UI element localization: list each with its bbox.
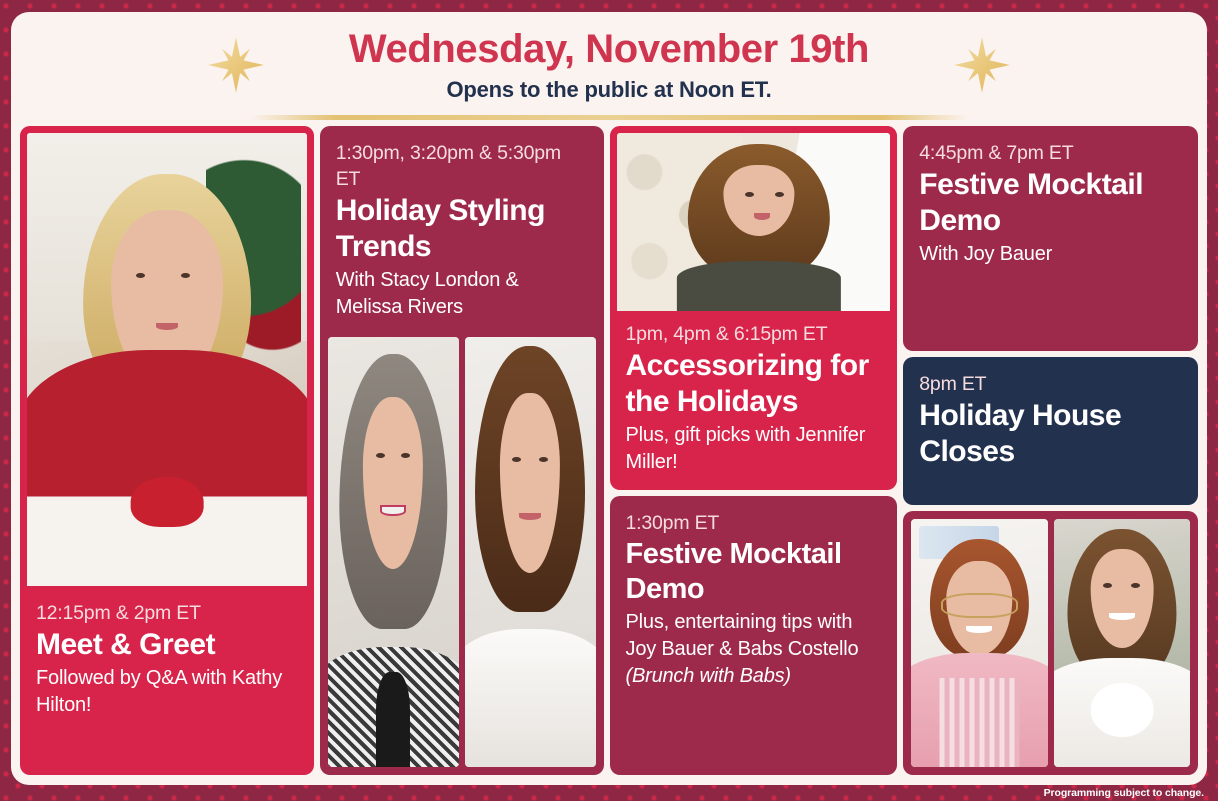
card-subtitle-plain: Plus, entertaining tips with Joy Bauer &… [626, 611, 859, 660]
card-title: Holiday House Closes [919, 398, 1182, 470]
star-icon [207, 36, 265, 94]
card-festive-mocktail-demo-445[interactable]: 4:45pm & 7pm ET Festive Mocktail Demo Wi… [903, 126, 1198, 351]
disclaimer-text: Programming subject to change. [1044, 787, 1204, 799]
presenter-photos [320, 337, 604, 775]
card-title: Festive Mocktail Demo [919, 167, 1182, 239]
card-accessorizing-body: 1pm, 4pm & 6:15pm ET Accessorizing for t… [610, 311, 898, 490]
stacy-london-photo [328, 337, 459, 767]
card-time: 12:15pm & 2pm ET [36, 600, 298, 626]
column-1: 12:15pm & 2pm ET Meet & Greet Followed b… [20, 126, 314, 775]
portrait-illustration [1054, 519, 1190, 767]
decorative-frame: Wednesday, November 19th Opens to the pu… [0, 0, 1218, 801]
card-time: 1:30pm ET [626, 510, 882, 536]
card-festive-mocktail-130-body: 1:30pm ET Festive Mocktail Demo Plus, en… [610, 496, 898, 706]
portrait-illustration [617, 133, 891, 311]
card-holiday-house-closes-body: 8pm ET Holiday House Closes [903, 357, 1198, 488]
card-holiday-house-closes[interactable]: 8pm ET Holiday House Closes [903, 357, 1198, 505]
kathy-hilton-photo [20, 126, 314, 586]
card-time: 1:30pm, 3:20pm & 5:30pm ET [336, 140, 588, 192]
header: Wednesday, November 19th Opens to the pu… [11, 12, 1207, 126]
presenter-photos-card [903, 511, 1198, 775]
card-meet-and-greet-body: 12:15pm & 2pm ET Meet & Greet Followed b… [20, 586, 314, 775]
column-4: 4:45pm & 7pm ET Festive Mocktail Demo Wi… [903, 126, 1198, 775]
page-title: Wednesday, November 19th [11, 24, 1207, 74]
card-title: Festive Mocktail Demo [626, 537, 882, 607]
portrait-illustration [911, 519, 1047, 767]
page-subtitle: Opens to the public at Noon ET. [11, 74, 1207, 106]
jennifer-miller-photo [610, 126, 898, 311]
card-festive-mocktail-demo-130[interactable]: 1:30pm ET Festive Mocktail Demo Plus, en… [610, 496, 898, 775]
card-subtitle: With Stacy London & Melissa Rivers [336, 267, 588, 321]
star-icon [953, 36, 1011, 94]
card-subtitle: With Joy Bauer [919, 241, 1182, 268]
gold-divider [250, 115, 968, 120]
card-holiday-styling-trends[interactable]: 1:30pm, 3:20pm & 5:30pm ET Holiday Styli… [320, 126, 604, 775]
card-holiday-styling-trends-body: 1:30pm, 3:20pm & 5:30pm ET Holiday Styli… [320, 126, 604, 337]
babs-costello-photo [911, 519, 1047, 767]
portrait-illustration [27, 133, 307, 586]
card-accessorizing-for-the-holidays[interactable]: 1pm, 4pm & 6:15pm ET Accessorizing for t… [610, 126, 898, 490]
card-title: Holiday Styling Trends [336, 193, 588, 265]
joy-bauer-photo [1054, 519, 1190, 767]
card-festive-mocktail-445-body: 4:45pm & 7pm ET Festive Mocktail Demo Wi… [903, 126, 1198, 284]
melissa-rivers-photo [465, 337, 596, 767]
card-title: Accessorizing for the Holidays [626, 348, 882, 420]
card-title: Meet & Greet [36, 627, 298, 663]
portrait-illustration [328, 337, 459, 767]
card-time: 4:45pm & 7pm ET [919, 140, 1182, 166]
card-subtitle: Followed by Q&A with Kathy Hilton! [36, 665, 298, 719]
card-time: 1pm, 4pm & 6:15pm ET [626, 321, 882, 347]
card-subtitle: Plus, gift picks with Jennifer Miller! [626, 422, 882, 476]
portrait-illustration [465, 337, 596, 767]
card-subtitle-italic: (Brunch with Babs) [626, 665, 791, 687]
column-3: 1pm, 4pm & 6:15pm ET Accessorizing for t… [610, 126, 898, 775]
card-meet-and-greet[interactable]: 12:15pm & 2pm ET Meet & Greet Followed b… [20, 126, 314, 775]
card-time: 8pm ET [919, 371, 1182, 397]
schedule-panel: Wednesday, November 19th Opens to the pu… [11, 12, 1207, 785]
presenter-photos [903, 511, 1198, 775]
schedule-grid: 12:15pm & 2pm ET Meet & Greet Followed b… [11, 126, 1207, 785]
card-subtitle: Plus, entertaining tips with Joy Bauer &… [626, 609, 882, 690]
column-2: 1:30pm, 3:20pm & 5:30pm ET Holiday Styli… [320, 126, 604, 775]
